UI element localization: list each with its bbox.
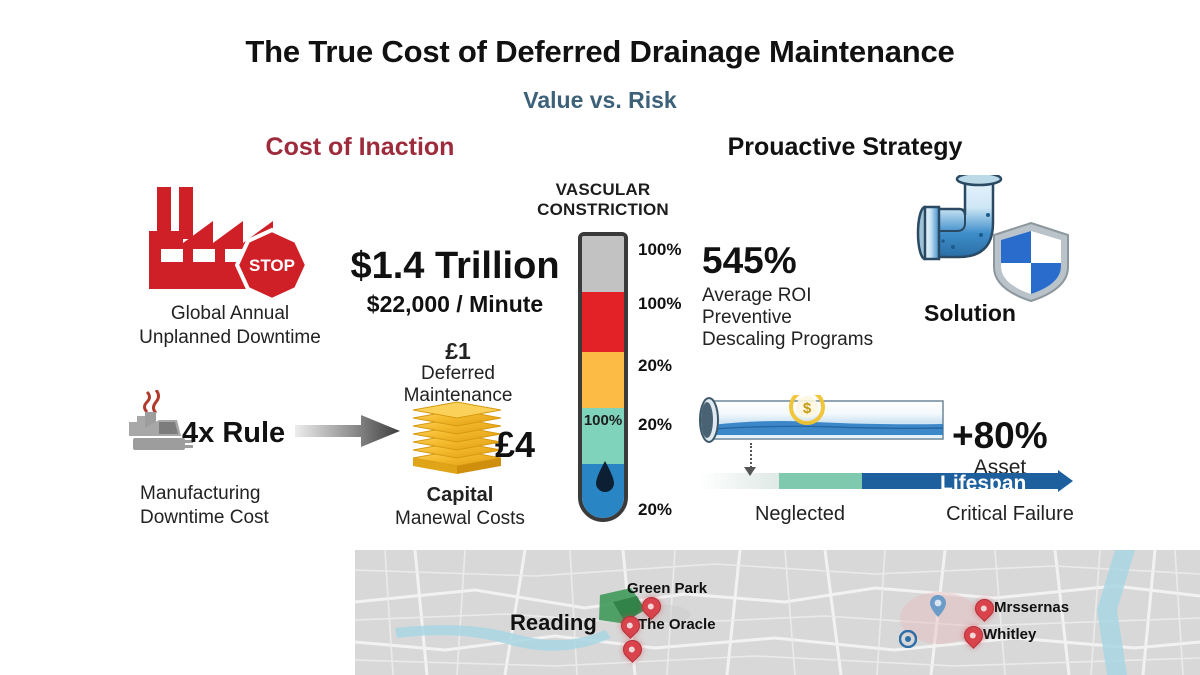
timeline-pointer-arrow-icon [744,467,756,476]
horizontal-pipe-coin-icon: $ [695,395,945,451]
gauge-segment-red [582,292,624,351]
infographic-canvas: The True Cost of Deferred Drainage Maint… [0,0,1200,675]
deferred-caption-line1: Deferred [398,363,518,385]
roi-line3: Descaling Programs [702,329,873,351]
right-arrow-icon [295,414,400,448]
gauge-tick-0: 100% [638,240,681,260]
gauge-title: VASCULAR CONSTRICTION [523,180,683,220]
factory-stop-icon: STOP [145,185,320,300]
timeline-neglected-bar [779,473,862,489]
solution-label: Solution [890,300,1050,327]
capital-caption-line1: Capital [390,484,530,507]
gauge-title-line2: CONSTRICTION [537,200,669,219]
roi-value: 545% [702,240,797,282]
lifespan-value: +80% [952,415,1048,457]
map-label-reading: Reading [510,610,597,636]
timeline-fade [700,473,779,489]
rule-caption-line2: Downtime Cost [140,507,330,529]
factory-caption-line2: Unplanned Downtime [112,327,348,349]
cost-amount: $1.4 Trillion [350,245,560,288]
map-label-whitley: Whitley [983,626,1036,643]
factory-caption-line1: Global Annual [130,303,330,325]
gauge-tick-2: 20% [638,356,672,376]
page-subtitle: Value vs. Risk [0,87,1200,114]
svg-text:STOP: STOP [249,256,295,275]
map-label-green-park: Green Park [627,580,707,597]
cost-rate: $22,000 / Minute [350,291,560,318]
gauge-title-line1: VASCULAR [556,180,651,199]
gauge-segment-grey [582,236,624,292]
gauge-tick-3: 20% [638,415,672,435]
map-pin-whitley[interactable] [964,626,981,643]
capital-caption-line2: Manewal Costs [370,508,550,530]
left-column-heading: Cost of Inaction [200,133,520,162]
page-title: The True Cost of Deferred Drainage Maint… [0,34,1200,70]
deferred-value: £1 [398,338,518,365]
gauge-segment-orange [582,352,624,408]
vascular-constriction-gauge [578,232,628,522]
map-pin-the-oracle[interactable] [621,616,638,633]
map-marker-teardrop-icon[interactable] [930,595,946,617]
map-circle-marker-icon[interactable] [899,630,917,648]
gauge-tick-1: 100% [638,294,681,314]
coin-symbol: $ [803,400,812,417]
timeline-left-label: Neglected [730,503,870,526]
gauge-tick-4: 20% [638,500,672,520]
pipe-shield-icon [893,175,1078,305]
gauge-inner-label: 100% [578,412,628,429]
four-x-rule-label: 4x Rule [182,417,285,450]
location-map[interactable]: Reading Green Park The Oracle Mrssernas … [355,550,1200,675]
map-pin-green-park[interactable] [642,597,659,614]
map-pin-lower[interactable] [623,640,640,657]
lifespan-line2: Lifespan [940,472,1070,496]
timeline-right-label: Critical Failure [925,503,1095,526]
right-column-heading: Prouactive Strategy [700,133,990,162]
rule-caption-line1: Manufacturing [140,483,310,505]
map-label-mrssernas: Mrssernas [994,599,1069,616]
capital-value: £4 [495,424,535,466]
roi-line2: Preventive [702,307,792,329]
map-pin-mrssernas[interactable] [975,599,992,616]
roi-line1: Average ROI [702,285,811,307]
